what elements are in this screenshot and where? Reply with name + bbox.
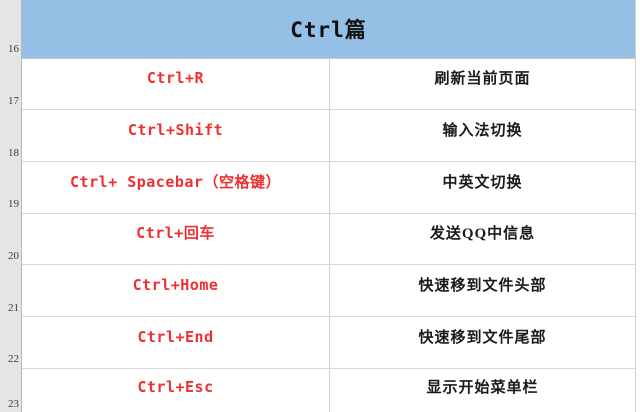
shortcut-cell[interactable]: Ctrl+R [22,58,330,109]
shortcut-cell[interactable]: Ctrl+End [22,317,330,368]
table-row: Ctrl+R 刷新当前页面 [22,58,635,110]
description-cell[interactable]: 快速移到文件头部 [330,265,635,316]
table-row: Ctrl+Esc 显示开始菜单栏 [22,369,635,412]
shortcut-cell[interactable]: Ctrl+Home [22,265,330,316]
description-cell[interactable]: 快速移到文件尾部 [330,317,635,368]
shortcut-cell[interactable]: Ctrl+Shift [22,110,330,161]
shortcut-cell[interactable]: Ctrl+回车 [22,213,330,264]
shortcut-cell[interactable]: Ctrl+ Spacebar（空格键） [22,162,330,213]
shortcut-text: Ctrl+End [137,328,213,346]
row-header-17[interactable]: 17 [0,96,21,107]
spreadsheet-sheet: 16 17 18 19 20 21 22 23 Ctrl篇 Ctrl+R 刷新当… [0,0,640,412]
description-text: 快速移到文件尾部 [418,326,546,347]
description-cell[interactable]: 输入法切换 [330,110,635,161]
description-text: 中英文切换 [442,171,522,192]
description-cell[interactable]: 刷新当前页面 [330,58,635,109]
shortcut-text: Ctrl+Shift [128,121,223,139]
description-text: 输入法切换 [442,119,522,140]
row-header-20[interactable]: 20 [0,251,21,262]
shortcut-text: Ctrl+回车 [136,222,215,243]
table-title-cell[interactable]: Ctrl篇 [22,0,635,58]
row-header-19[interactable]: 19 [0,199,21,210]
shortcut-text: Ctrl+Esc [137,378,213,396]
row-header-gutter: 16 17 18 19 20 21 22 23 [0,0,22,412]
grid-right-edge [635,0,636,412]
row-header-21[interactable]: 21 [0,303,21,314]
description-cell[interactable]: 显示开始菜单栏 [330,369,635,412]
shortcut-cell[interactable]: Ctrl+Esc [22,369,330,412]
row-header-16[interactable]: 16 [0,44,21,55]
row-header-18[interactable]: 18 [0,148,21,159]
description-text: 刷新当前页面 [434,67,530,88]
page-title: Ctrl篇 [290,14,367,44]
table-row: Ctrl+ Spacebar（空格键） 中英文切换 [22,162,635,214]
shortcut-text: Ctrl+R [147,69,204,87]
shortcut-text: Ctrl+Home [133,276,219,294]
shortcut-text: Ctrl+ Spacebar（空格键） [70,171,281,192]
table-row: Ctrl+回车 发送QQ中信息 [22,213,635,265]
table-row: Ctrl+Shift 输入法切换 [22,110,635,162]
table-row: Ctrl+End 快速移到文件尾部 [22,317,635,369]
description-text: 显示开始菜单栏 [426,376,538,397]
description-text: 快速移到文件头部 [418,274,546,295]
row-header-23[interactable]: 23 [0,399,21,410]
sheet-grid: Ctrl篇 Ctrl+R 刷新当前页面 Ctrl+Shift 输入法切换 Ctr… [22,0,640,412]
description-cell[interactable]: 中英文切换 [330,162,635,213]
description-cell[interactable]: 发送QQ中信息 [330,213,635,264]
description-text: 发送QQ中信息 [430,222,535,243]
table-row: Ctrl+Home 快速移到文件头部 [22,265,635,317]
row-header-22[interactable]: 22 [0,354,21,365]
